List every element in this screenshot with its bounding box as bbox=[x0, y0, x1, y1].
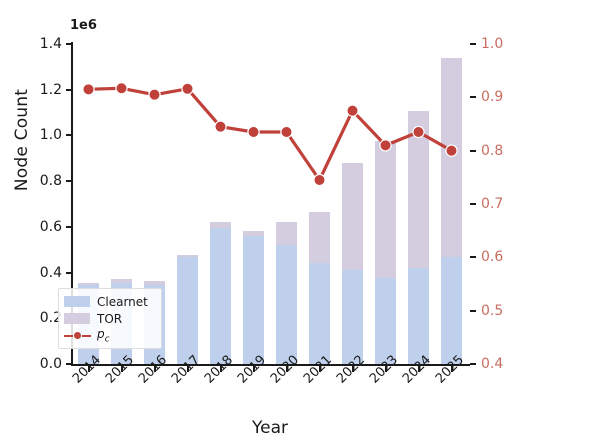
legend-label-pc-symbol: p bbox=[97, 327, 105, 341]
y-axis-left-tick-label: 1.2 bbox=[40, 82, 62, 98]
pc-marker bbox=[83, 84, 94, 95]
y-axis-right-tick bbox=[470, 96, 476, 98]
pc-line bbox=[89, 88, 452, 180]
y-axis-left-tick-label: 0.6 bbox=[40, 219, 62, 235]
legend-label-clearnet: Clearnet bbox=[97, 295, 148, 309]
legend-line-marker bbox=[74, 332, 81, 339]
y-axis-right-tick-label: 0.4 bbox=[481, 356, 503, 372]
pc-marker bbox=[413, 126, 424, 137]
y-axis-offset-text: 1e6 bbox=[70, 18, 97, 33]
y-axis-left-tick-label: 0.8 bbox=[40, 173, 62, 189]
y-axis-right-tick-label: 0.9 bbox=[481, 89, 503, 105]
legend-item-tor[interactable]: TOR bbox=[64, 310, 156, 327]
pc-marker bbox=[116, 83, 127, 94]
chart-legend[interactable]: Clearnet TOR pc bbox=[58, 288, 162, 349]
pc-marker bbox=[182, 83, 193, 94]
legend-line-left-dash bbox=[64, 335, 73, 337]
legend-swatch-tor bbox=[64, 313, 90, 324]
y-axis-right-tick bbox=[470, 310, 476, 312]
y-axis-left-tick-label: 1.0 bbox=[40, 127, 62, 143]
y-axis-left-tick-label: 1.4 bbox=[40, 36, 62, 52]
y-axis-right-tick-label: 0.8 bbox=[481, 143, 503, 159]
y-axis-right-tick bbox=[470, 150, 476, 152]
chart-figure: Node Count Critical Failure Threshold (p… bbox=[0, 0, 600, 445]
pc-marker bbox=[347, 105, 358, 116]
legend-swatch-clearnet bbox=[64, 296, 90, 307]
y-axis-right-tick bbox=[470, 203, 476, 205]
legend-label-tor: TOR bbox=[97, 312, 122, 326]
y-axis-right-tick bbox=[470, 363, 476, 365]
legend-label-pc: pc bbox=[97, 327, 110, 344]
legend-item-clearnet[interactable]: Clearnet bbox=[64, 293, 156, 310]
y-axis-left-tick-label: 0.4 bbox=[40, 265, 62, 281]
y-axis-right-tick-label: 0.6 bbox=[481, 249, 503, 265]
legend-label-pc-subscript: c bbox=[105, 334, 110, 344]
y-axis-left-ticks: 0.00.20.40.60.81.01.21.4 bbox=[0, 0, 72, 445]
pc-marker bbox=[446, 145, 457, 156]
y-axis-right-tick-label: 0.7 bbox=[481, 196, 503, 212]
pc-marker bbox=[314, 174, 325, 185]
y-axis-right-tick-label: 0.5 bbox=[481, 303, 503, 319]
y-axis-right-tick-label: 1.0 bbox=[481, 36, 503, 52]
y-axis-right-tick bbox=[470, 43, 476, 45]
pc-marker bbox=[281, 126, 292, 137]
x-axis-title: Year bbox=[0, 418, 540, 438]
y-axis-left-tick-label: 0.0 bbox=[40, 356, 62, 372]
legend-item-pc[interactable]: pc bbox=[64, 327, 156, 344]
pc-marker bbox=[248, 126, 259, 137]
legend-line-right-dash bbox=[82, 335, 91, 337]
pc-marker bbox=[380, 140, 391, 151]
y-axis-right-ticks: 0.40.50.60.70.80.91.0 bbox=[470, 0, 600, 445]
pc-marker bbox=[149, 89, 160, 100]
pc-marker bbox=[215, 121, 226, 132]
y-axis-right-tick bbox=[470, 256, 476, 258]
legend-swatch-pc bbox=[64, 330, 90, 341]
